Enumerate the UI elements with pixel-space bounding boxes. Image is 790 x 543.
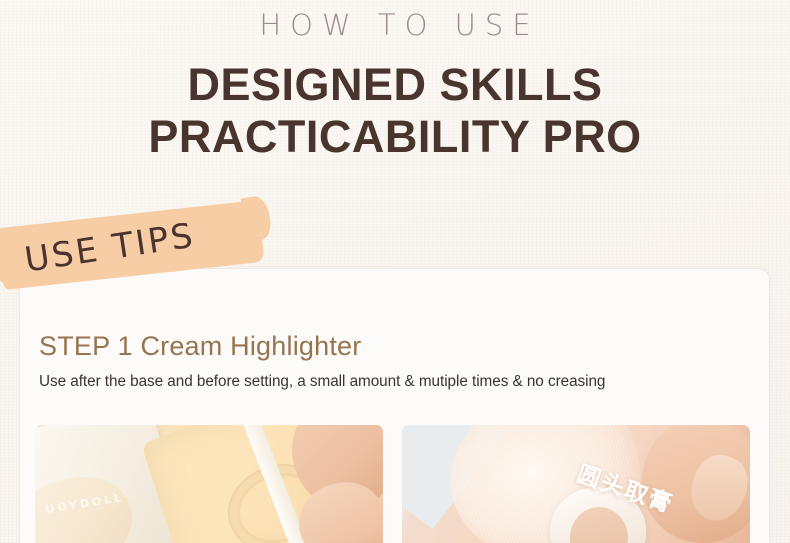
skin-swatch-photo: 圆头取膏 bbox=[402, 425, 750, 543]
step-title: STEP 1 Cream Highlighter bbox=[39, 330, 759, 364]
compact-cream-photo: UOYDOLL bbox=[35, 425, 383, 543]
step-photo-row: UOYDOLL 圆头取膏 bbox=[35, 425, 757, 543]
header-eyebrow: HOW TO USE bbox=[0, 8, 790, 43]
page-header: HOW TO USE DESIGNED SKILLS PRACTICABILIT… bbox=[0, 8, 790, 163]
step-section: STEP 1 Cream Highlighter Use after the b… bbox=[39, 330, 759, 391]
headline-line-1: DESIGNED SKILLS bbox=[187, 59, 602, 110]
headline-line-2: PRACTICABILITY PRO bbox=[0, 111, 790, 163]
step-description: Use after the base and before setting, a… bbox=[39, 373, 759, 391]
use-tips-banner: USE TIPS bbox=[0, 200, 288, 295]
page-title: DESIGNED SKILLS PRACTICABILITY PRO bbox=[0, 59, 790, 163]
